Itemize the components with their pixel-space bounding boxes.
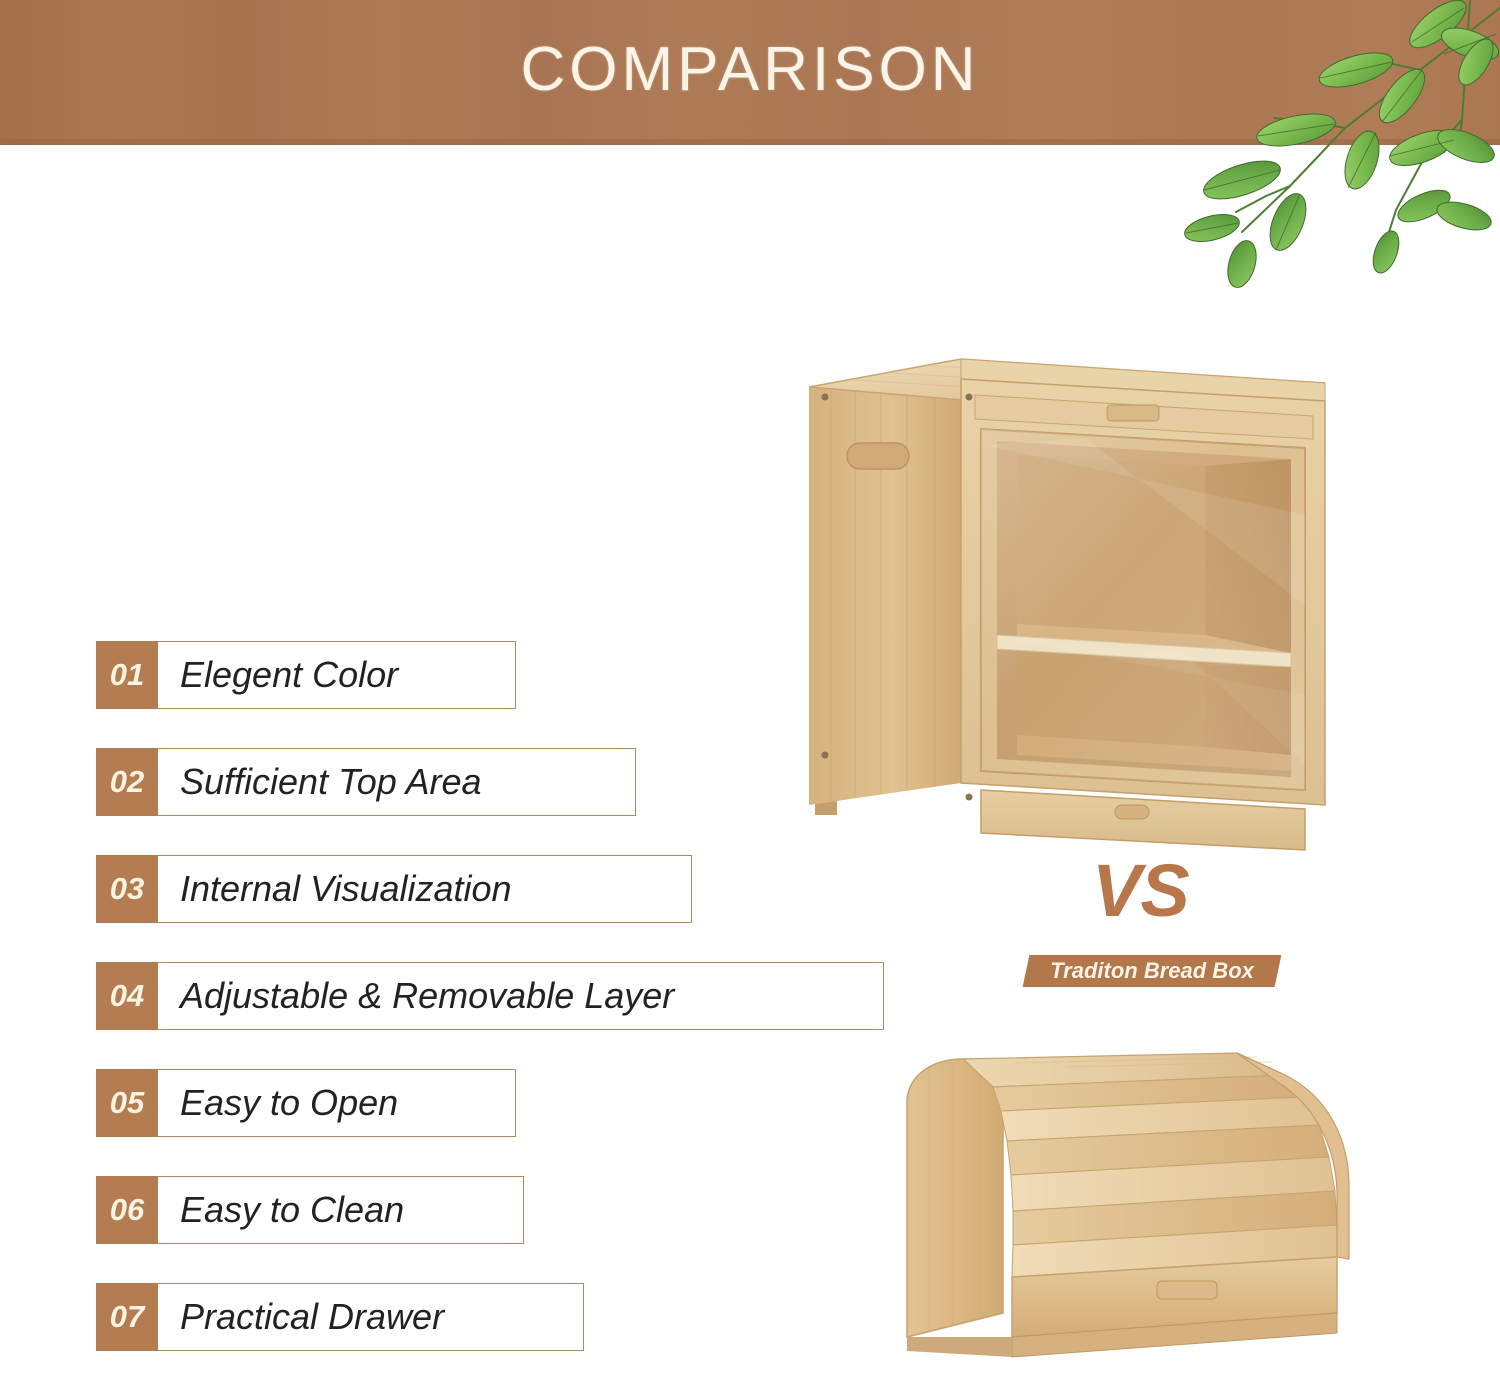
feature-number-badge: 02 (96, 748, 158, 816)
feature-item-04[interactable]: 04 Adjustable & Removable Layer (96, 962, 884, 1030)
vs-label: VS (1092, 848, 1189, 933)
feature-label: Elegent Color (158, 641, 516, 709)
feature-label: Easy to Open (158, 1069, 516, 1137)
feature-number-badge: 03 (96, 855, 158, 923)
feature-number-badge: 05 (96, 1069, 158, 1137)
feature-item-03[interactable]: 03 Internal Visualization (96, 855, 692, 923)
feature-item-06[interactable]: 06 Easy to Clean (96, 1176, 524, 1244)
feature-label: Easy to Clean (158, 1176, 524, 1244)
feature-item-05[interactable]: 05 Easy to Open (96, 1069, 516, 1137)
feature-number-badge: 07 (96, 1283, 158, 1351)
feature-item-01[interactable]: 01 Elegent Color (96, 641, 516, 709)
feature-number-badge: 04 (96, 962, 158, 1030)
feature-label: Internal Visualization (158, 855, 692, 923)
feature-number-badge: 06 (96, 1176, 158, 1244)
traditional-product-label: Traditon Bread Box (1026, 955, 1278, 987)
feature-item-07[interactable]: 07 Practical Drawer (96, 1283, 584, 1351)
page-title: COMPARISON (0, 34, 1500, 105)
feature-number-badge: 01 (96, 641, 158, 709)
new-bread-box-image (785, 335, 1345, 860)
feature-label: Sufficient Top Area (158, 748, 636, 816)
comparison-infographic: COMPARISON (0, 0, 1500, 1378)
feature-label: Practical Drawer (158, 1283, 584, 1351)
traditional-bread-box-image (885, 1045, 1400, 1375)
traditional-label-text: Traditon Bread Box (1026, 955, 1278, 987)
feature-label: Adjustable & Removable Layer (158, 962, 884, 1030)
feature-item-02[interactable]: 02 Sufficient Top Area (96, 748, 636, 816)
header-band-edge (0, 139, 1500, 145)
